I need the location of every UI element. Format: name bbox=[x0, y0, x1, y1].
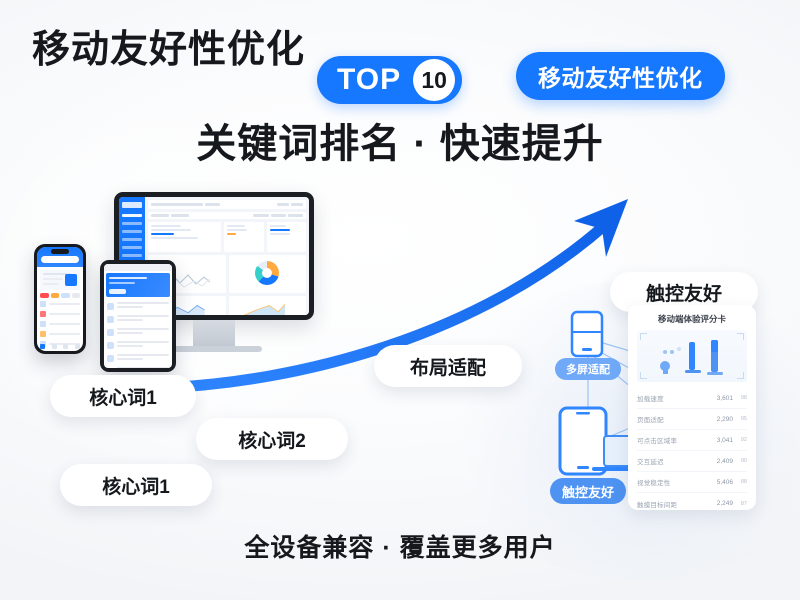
search-input bbox=[41, 256, 79, 263]
layout-adaptation-pill: 布局适配 bbox=[374, 345, 522, 387]
dashboard-logo bbox=[122, 202, 142, 208]
table-row: 可点击区域率 3,041 92 bbox=[637, 430, 747, 451]
table-row: 加载速度 3,601 98 bbox=[637, 388, 747, 409]
row-delta: 98 bbox=[733, 395, 747, 401]
list-item-icon bbox=[107, 303, 114, 310]
row-delta: 90 bbox=[733, 458, 747, 464]
list-item-icon bbox=[107, 329, 114, 336]
top-badge-rank: 10 bbox=[413, 59, 455, 101]
diagram-pill-multiscreen: 多屏适配 bbox=[555, 358, 621, 380]
dashboard-nav-item bbox=[122, 246, 142, 249]
mobile-experience-score-card: 移动端体验评分卡 加载速度 3,601 98 bbox=[628, 305, 756, 510]
row-value: 2,409 bbox=[709, 458, 733, 465]
list-item bbox=[107, 367, 169, 368]
header-tag-pill: 移动友好性优化 bbox=[516, 52, 725, 100]
device-mockup-group bbox=[24, 192, 344, 392]
list-item-icon bbox=[107, 355, 114, 362]
tablet-screen bbox=[104, 264, 172, 368]
footer-tagline: 全设备兼容 · 覆盖更多用户 bbox=[0, 528, 800, 564]
table-row: 交互延迟 2,409 90 bbox=[637, 451, 747, 472]
dashboard-nav-item bbox=[122, 230, 142, 233]
dashboard-card-row bbox=[148, 222, 306, 252]
row-value: 3,601 bbox=[709, 395, 733, 402]
score-card-chart bbox=[637, 330, 747, 382]
tablet-banner bbox=[106, 273, 170, 297]
phone-chip-row bbox=[37, 293, 83, 301]
phone-notch bbox=[51, 249, 69, 254]
list-item bbox=[107, 302, 169, 310]
score-card-title: 移动端体验评分卡 bbox=[637, 313, 747, 325]
phone-bezel bbox=[34, 244, 86, 354]
score-card-rows: 加载速度 3,601 98 页面适配 2,290 95 可点击区域率 3,041… bbox=[637, 388, 747, 514]
list-item bbox=[107, 315, 169, 323]
dashboard-card bbox=[148, 222, 221, 252]
list-item bbox=[107, 354, 169, 362]
tabbar-icon bbox=[52, 344, 57, 349]
list-item-icon bbox=[107, 368, 114, 369]
row-delta: 87 bbox=[733, 501, 747, 507]
page-subtitle: 关键词排名 · 快速提升 bbox=[0, 118, 800, 170]
row-name: 触摸目标间距 bbox=[637, 499, 709, 509]
row-delta: 88 bbox=[733, 479, 747, 485]
phone-result-card bbox=[40, 270, 80, 290]
dashboard-filterbar bbox=[148, 212, 306, 219]
phone-device bbox=[34, 244, 86, 354]
row-value: 3,041 bbox=[709, 437, 733, 444]
keyword-pill-3: 核心词1 bbox=[60, 464, 212, 506]
dashboard-donut-chart bbox=[229, 255, 307, 293]
dashboard-nav-item bbox=[122, 214, 142, 217]
dashboard-nav-item bbox=[122, 254, 142, 257]
diagram-pill-touch: 触控友好 bbox=[550, 478, 626, 504]
keyword-pill-1: 核心词1 bbox=[50, 375, 196, 417]
keyword-pill-2: 核心词2 bbox=[196, 418, 348, 460]
row-delta: 95 bbox=[733, 416, 747, 422]
tablet-device bbox=[100, 260, 176, 372]
tablet-statusbar bbox=[104, 264, 172, 271]
list-item bbox=[40, 321, 80, 327]
table-row: 视觉稳定性 5,406 88 bbox=[637, 472, 747, 493]
row-name: 视觉稳定性 bbox=[637, 477, 709, 487]
tablet-list bbox=[104, 299, 172, 368]
list-item bbox=[107, 328, 169, 336]
row-name: 交互延迟 bbox=[637, 456, 709, 466]
list-item bbox=[40, 331, 80, 337]
list-item bbox=[40, 311, 80, 317]
dashboard-nav-item bbox=[122, 238, 142, 241]
table-row: 触摸目标间距 2,249 87 bbox=[637, 493, 747, 514]
row-value: 5,406 bbox=[709, 479, 733, 486]
score-bar-chart bbox=[637, 330, 747, 382]
dashboard-card bbox=[224, 222, 264, 252]
row-name: 加载速度 bbox=[637, 393, 709, 403]
list-item bbox=[40, 301, 80, 307]
list-item-icon bbox=[107, 316, 114, 323]
row-value: 2,249 bbox=[709, 500, 733, 507]
phone-screen bbox=[37, 247, 83, 351]
table-row: 页面适配 2,290 95 bbox=[637, 409, 747, 430]
tabbar-icon bbox=[40, 344, 45, 349]
monitor-stand bbox=[193, 320, 235, 346]
tabbar-icon bbox=[63, 344, 68, 349]
poster-canvas: 移动友好性优化 TOP 10 移动友好性优化 关键词排名 · 快速提升 bbox=[0, 0, 800, 600]
row-delta: 92 bbox=[733, 437, 747, 443]
dashboard-topbar bbox=[148, 200, 306, 209]
tablet-bezel bbox=[100, 260, 176, 372]
dashboard-area-chart-2 bbox=[229, 296, 307, 315]
tabbar-icon bbox=[75, 344, 80, 349]
list-item-icon bbox=[107, 342, 114, 349]
phone-tabbar bbox=[37, 344, 83, 349]
thumbnail-image bbox=[65, 274, 77, 286]
diagram-phone-large bbox=[560, 408, 606, 474]
list-item bbox=[107, 341, 169, 349]
row-name: 可点击区域率 bbox=[637, 435, 709, 445]
top-rank-badge: TOP 10 bbox=[317, 56, 462, 104]
dashboard-nav-item bbox=[122, 222, 142, 225]
page-title: 移动友好性优化 bbox=[32, 26, 305, 74]
row-name: 页面适配 bbox=[637, 414, 709, 424]
donut-icon bbox=[255, 261, 279, 285]
monitor-base bbox=[166, 346, 262, 352]
row-value: 2,290 bbox=[709, 416, 733, 423]
top-badge-label: TOP bbox=[337, 65, 413, 95]
dashboard-card bbox=[267, 222, 307, 252]
